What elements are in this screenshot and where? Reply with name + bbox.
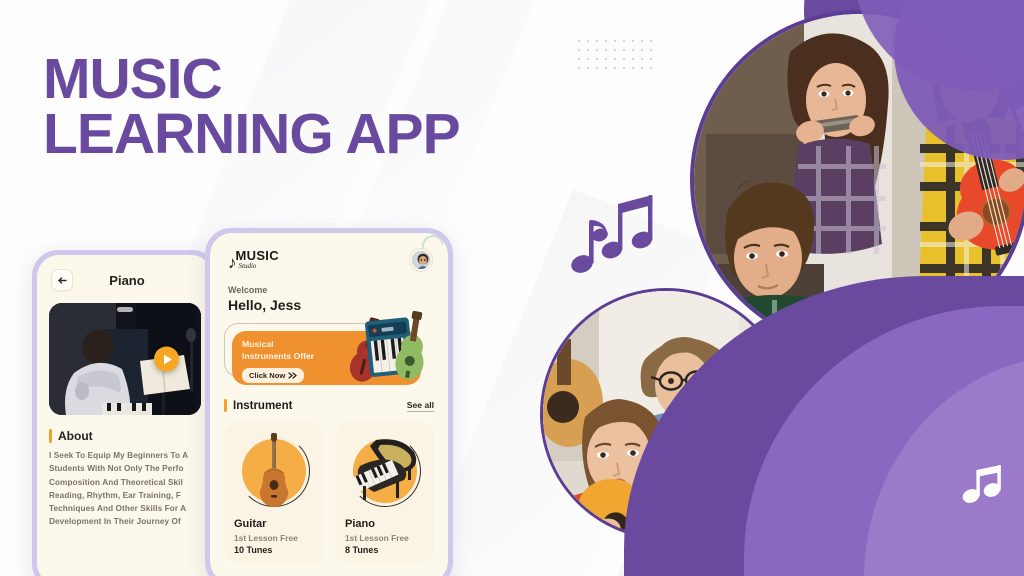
- play-icon[interactable]: [154, 347, 179, 372]
- dot: [578, 67, 580, 69]
- about-line: Students With Not Only The Perfo: [49, 462, 201, 475]
- dot: [596, 67, 598, 69]
- dot: [596, 49, 598, 51]
- dot: [605, 49, 607, 51]
- click-now-label: Click Now: [249, 371, 285, 380]
- poster-canvas: MUSIC LEARNING APP: [0, 0, 1024, 576]
- dot: [578, 49, 580, 51]
- instrument-tunes: 8 Tunes: [345, 545, 424, 555]
- avatar-photo: [412, 251, 432, 271]
- phone-mockup-home: ♪ MUSIC Studio: [205, 228, 453, 576]
- instrument-tunes: 10 Tunes: [234, 545, 313, 555]
- dot: [632, 40, 634, 42]
- about-description: I Seek To Equip My Beginners To AStudent…: [37, 449, 213, 529]
- instrument-name: Piano: [345, 518, 424, 530]
- play-triangle: [164, 354, 172, 364]
- dot: [641, 67, 643, 69]
- dot: [632, 67, 634, 69]
- dot: [641, 49, 643, 51]
- dot: [605, 67, 607, 69]
- instrument-section-header: Instrument See all: [210, 385, 448, 412]
- logo-subtitle: Studio: [239, 263, 279, 270]
- dot: [587, 40, 589, 42]
- instrument-name: Guitar: [234, 518, 313, 530]
- dot: [650, 49, 652, 51]
- dot: [596, 40, 598, 42]
- video-notch: [117, 307, 133, 312]
- dot: [587, 49, 589, 51]
- dot: [614, 58, 616, 60]
- dot: [650, 58, 652, 60]
- page-title: MUSIC LEARNING APP: [43, 52, 563, 161]
- about-line: Reading, Rhythm, Ear Training, F: [49, 489, 201, 502]
- about-line: I Seek To Equip My Beginners To A: [49, 449, 201, 462]
- welcome-label: Welcome: [228, 285, 430, 295]
- arrow-left-glyph: [57, 275, 68, 286]
- dot: [650, 67, 652, 69]
- dot: [623, 49, 625, 51]
- music-note-icon: [962, 463, 1002, 510]
- dot: [578, 58, 580, 60]
- dot: [605, 40, 607, 42]
- dot: [596, 58, 598, 60]
- about-line: Techniques And Other Skills For A: [49, 502, 201, 515]
- instrument-card-guitar[interactable]: Guitar 1st Lesson Free 10 Tunes: [224, 422, 323, 563]
- section-accent-bar: [49, 429, 52, 443]
- instrument-offer: 1st Lesson Free: [345, 533, 424, 543]
- dot: [623, 58, 625, 60]
- lesson-video-player[interactable]: [49, 303, 201, 415]
- instrument-section-title: Instrument: [233, 400, 407, 412]
- dot: [614, 67, 616, 69]
- dot: [650, 40, 652, 42]
- app-logo: ♪ MUSIC Studio: [228, 249, 279, 270]
- dot-grid-pattern: [578, 40, 659, 76]
- dot: [623, 40, 625, 42]
- page-title-line-2: LEARNING APP: [43, 107, 563, 162]
- instrument-card-piano[interactable]: Piano 1st Lesson Free 8 Tunes: [335, 422, 434, 563]
- dot: [641, 58, 643, 60]
- offer-banner[interactable]: Musical Instruments Offer Click Now: [224, 323, 434, 385]
- acoustic-guitar-icon: [257, 431, 291, 512]
- instrument-offer: 1st Lesson Free: [234, 533, 313, 543]
- app-header: ♪ MUSIC Studio: [210, 233, 448, 271]
- guitar-thumbnail: [234, 432, 313, 510]
- logo-title: MUSIC: [236, 249, 279, 262]
- piano-thumbnail: [345, 432, 424, 510]
- offer-card[interactable]: Musical Instruments Offer Click Now: [232, 331, 421, 385]
- dot: [641, 40, 643, 42]
- detail-topbar: Piano: [37, 255, 213, 299]
- dot: [632, 58, 634, 60]
- about-heading: About: [58, 429, 93, 443]
- dot: [578, 40, 580, 42]
- about-line: Development In Their Journey Of: [49, 515, 201, 528]
- dot: [614, 49, 616, 51]
- grand-piano-icon: [350, 436, 420, 507]
- dot: [587, 67, 589, 69]
- purple-swoosh-decoration: [604, 276, 1024, 576]
- instruments-illustration: [343, 309, 427, 387]
- phone-mockup-piano-detail: Piano: [32, 250, 218, 576]
- welcome-block: Welcome Hello, Jess: [210, 271, 448, 313]
- arrow-left-icon[interactable]: [51, 269, 73, 291]
- click-now-button[interactable]: Click Now: [242, 368, 304, 383]
- dot: [614, 40, 616, 42]
- chevron-right-icon: [288, 372, 297, 379]
- see-all-link[interactable]: See all: [407, 400, 434, 412]
- dot: [623, 67, 625, 69]
- dot: [632, 49, 634, 51]
- section-accent-bar: [224, 399, 227, 412]
- dot: [605, 58, 607, 60]
- detail-page-title: Piano: [73, 273, 181, 288]
- avatar[interactable]: [410, 249, 432, 271]
- dot: [587, 58, 589, 60]
- instrument-card-list: Guitar 1st Lesson Free 10 Tunes: [210, 412, 448, 563]
- about-line: Composition And Theoretical Skil: [49, 476, 201, 489]
- music-notes-icon: [568, 188, 658, 281]
- about-section-header: About: [37, 415, 213, 449]
